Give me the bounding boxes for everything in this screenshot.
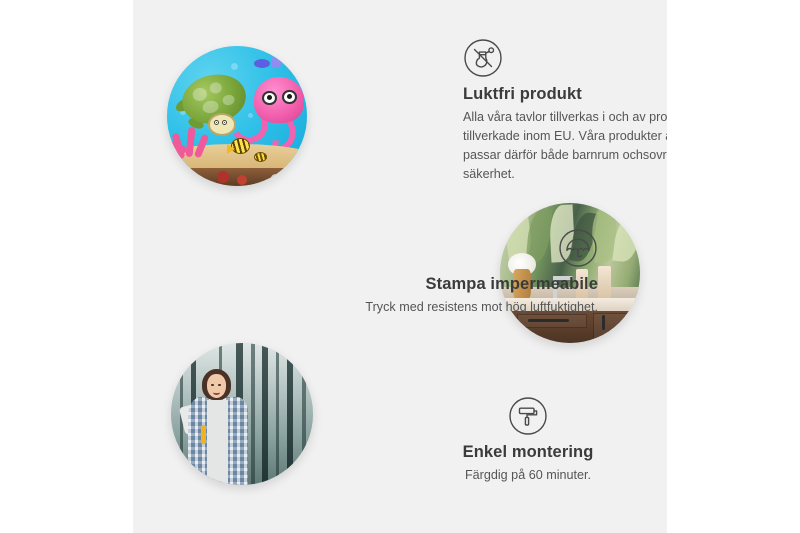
bottle bbox=[598, 266, 611, 300]
tree bbox=[287, 343, 293, 485]
octopus-eye bbox=[262, 91, 277, 106]
tree bbox=[302, 343, 306, 485]
feature-waterproof: Stampa impermeabile Tryck med resistens … bbox=[328, 228, 598, 317]
gray-feature-panel: Luktfri produkt Alla våra tavlor tillver… bbox=[133, 0, 667, 533]
feature-body: Tryck med resistens mot hög luftfuktighe… bbox=[328, 298, 598, 317]
striped-fish-tail bbox=[227, 144, 235, 154]
feature-odourless: Luktfri produkt Alla våra tavlor tillver… bbox=[463, 38, 667, 185]
woman-tshirt bbox=[207, 400, 228, 485]
product-photo-woman-forest[interactable] bbox=[171, 343, 313, 485]
underwater-scene bbox=[167, 46, 307, 186]
turtle-eye bbox=[214, 120, 219, 125]
feature-title: Enkel montering bbox=[429, 443, 627, 462]
woman-smile bbox=[213, 390, 219, 395]
feature-body: Färgdig på 60 minuter. bbox=[429, 466, 627, 485]
turtle-eye bbox=[222, 120, 227, 125]
tree bbox=[262, 343, 268, 485]
shell-pattern bbox=[209, 81, 224, 95]
tree bbox=[276, 343, 279, 485]
feature-title: Stampa impermeabile bbox=[328, 275, 598, 294]
door-handle bbox=[602, 315, 605, 330]
blue-fish bbox=[254, 59, 270, 68]
tree bbox=[251, 343, 255, 485]
woman-eye bbox=[218, 384, 221, 386]
feature-title: Luktfri produkt bbox=[463, 85, 667, 104]
paint-roller-icon bbox=[508, 396, 548, 436]
vanity-door bbox=[593, 313, 640, 341]
no-fragrance-icon bbox=[463, 38, 503, 78]
umbrella-icon bbox=[558, 228, 598, 268]
leaf bbox=[612, 215, 640, 264]
woman-eye bbox=[211, 384, 214, 386]
shell-pattern bbox=[192, 87, 208, 102]
feature-body: Alla våra tavlor tillverkas i och av pro… bbox=[463, 108, 667, 185]
product-photo-underwater-kids[interactable] bbox=[167, 46, 307, 186]
bottom-coral bbox=[237, 175, 247, 185]
feature-assembly: Enkel montering Färgdig på 60 minuter. bbox=[429, 396, 627, 485]
bottom-shell bbox=[271, 174, 282, 182]
drawer-handle bbox=[528, 319, 569, 322]
roller-grip bbox=[201, 425, 207, 443]
octopus-eye bbox=[282, 90, 297, 105]
forest-mural-scene bbox=[171, 343, 313, 485]
shell-pattern bbox=[222, 94, 236, 107]
octopus-head bbox=[254, 77, 304, 123]
feature-panel-screenshot: Luktfri produkt Alla våra tavlor tillver… bbox=[0, 0, 800, 533]
